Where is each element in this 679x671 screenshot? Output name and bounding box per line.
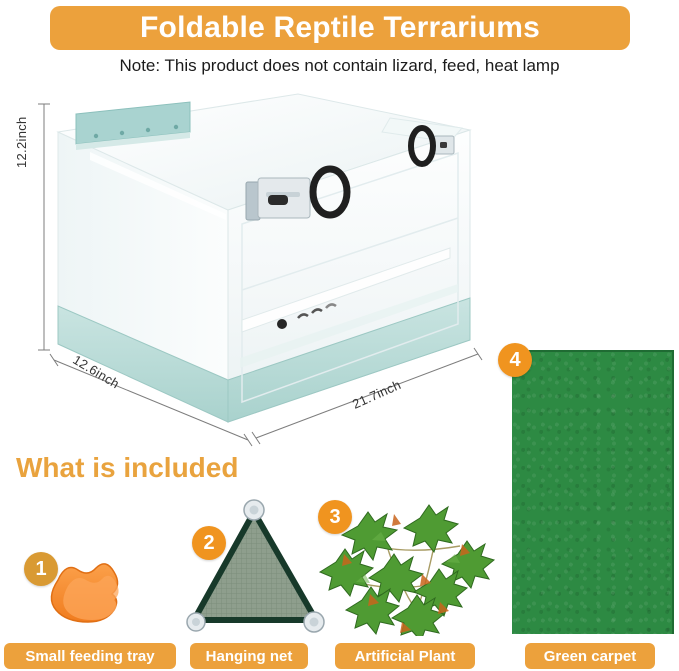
item-label-hanging-net: Hanging net [190,643,308,669]
item-badge-4: 4 [498,343,532,377]
item-feeding-tray: 1 [24,552,154,632]
title-banner: Foldable Reptile Terrariums [50,6,630,50]
item-label-artificial-plant: Artificial Plant [335,643,475,669]
item-badge-2: 2 [192,526,226,560]
green-carpet-icon [512,350,674,634]
terrarium-illustration [30,92,500,447]
dimension-height-label: 12.2inch [14,116,29,168]
item-artificial-plant: 3 [310,496,500,636]
included-heading: What is included [16,452,238,484]
item-badge-1: 1 [24,552,58,586]
item-hanging-net: 2 [186,498,326,634]
item-label-feeding-tray: Small feeding tray [4,643,176,669]
product-note: Note: This product does not contain liza… [0,56,679,76]
item-label-green-carpet: Green carpet [525,643,655,669]
hanging-net-icon [186,498,326,634]
item-badge-3: 3 [318,500,352,534]
page-title: Foldable Reptile Terrariums [140,11,540,45]
